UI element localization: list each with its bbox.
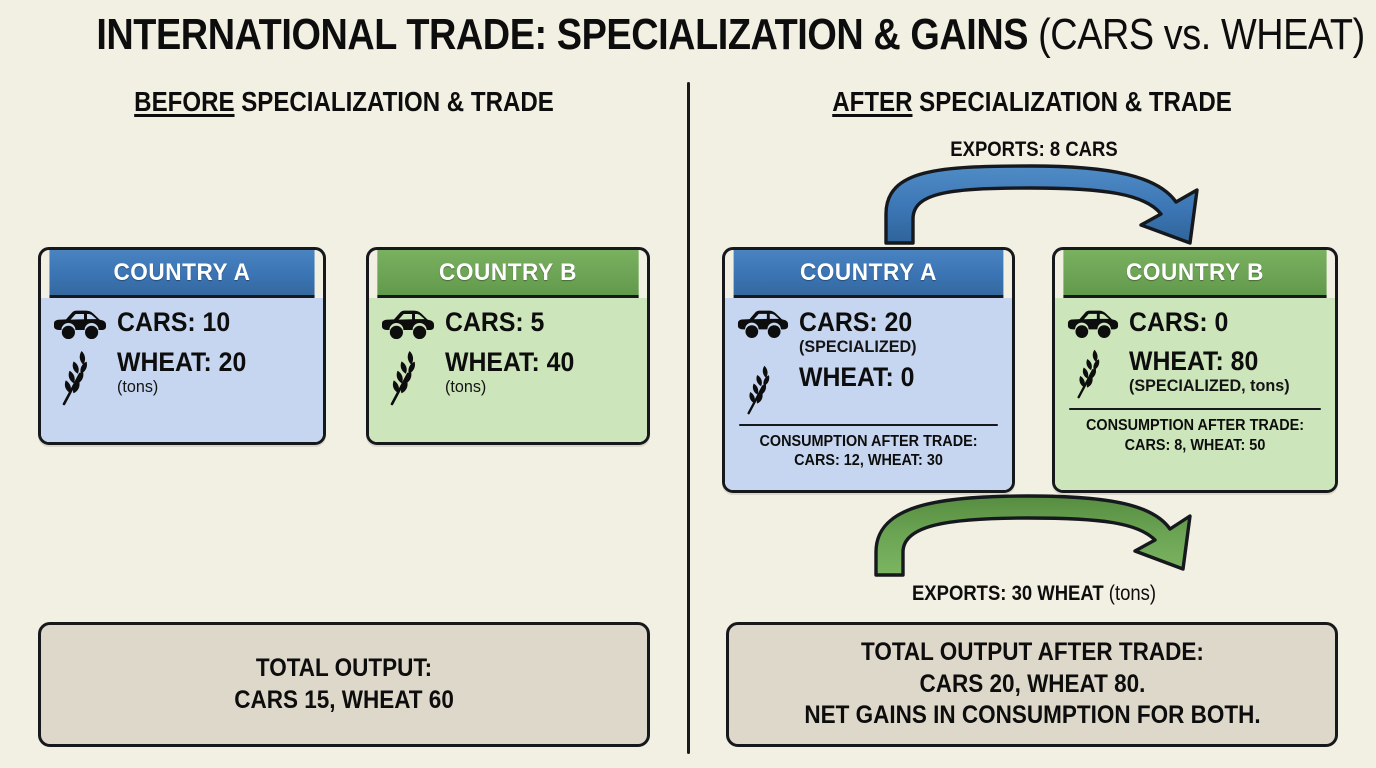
card-header-after-country-b: COUNTRY B (1063, 250, 1326, 298)
summary-after-line1: TOTAL OUTPUT AFTER TRADE: (804, 637, 1260, 669)
card-after-country-b: COUNTRY B CARS: 0 (1052, 247, 1338, 493)
page-title-parenthetical: (CARS vs. WHEAT) (1038, 10, 1365, 59)
card-divider (739, 424, 998, 426)
card-after-country-a: COUNTRY A CARS: 20 (SPECIALIZED) (722, 247, 1015, 493)
page-title-main: INTERNATIONAL TRADE: SPECIALIZATION & GA… (96, 10, 1028, 59)
row-cars-text: CARS: 20 (SPECIALIZED) (799, 308, 923, 357)
row-cars-text: CARS: 5 (445, 308, 553, 337)
after-country-b-consumption-values: CARS: 8, WHEAT: 50 (1076, 436, 1314, 456)
row-cars-text: CARS: 0 (1129, 308, 1237, 337)
panel-title-before-rest: SPECIALIZATION & TRADE (235, 86, 554, 117)
page-title: INTERNATIONAL TRADE: SPECIALIZATION & GA… (96, 10, 1279, 60)
label-exports-cars: EXPORTS: 8 CARS (809, 138, 1260, 162)
arrow-exports-wheat (876, 496, 1190, 575)
panel-title-before: BEFORE SPECIALIZATION & TRADE (48, 86, 640, 118)
infographic-canvas: INTERNATIONAL TRADE: SPECIALIZATION & GA… (0, 0, 1376, 768)
wheat-icon (737, 363, 789, 415)
panel-title-after-rest: SPECIALIZATION & TRADE (912, 86, 1231, 117)
wheat-icon (1067, 347, 1119, 399)
row-wheat: WHEAT: 40 (tons) (381, 348, 635, 406)
before-country-a-wheat: WHEAT: 20 (117, 348, 246, 377)
row-cars: CARS: 5 (381, 308, 635, 342)
card-divider (1069, 408, 1321, 410)
card-header-before-country-b: COUNTRY B (377, 250, 638, 298)
after-country-b-cars: CARS: 0 (1129, 308, 1228, 337)
card-header-before-country-a: COUNTRY A (49, 250, 314, 298)
summary-after-lines: TOTAL OUTPUT AFTER TRADE: CARS 20, WHEAT… (804, 637, 1260, 732)
before-country-b-cars: CARS: 5 (445, 308, 544, 337)
wheat-icon (381, 348, 435, 406)
after-country-a-wheat: WHEAT: 0 (799, 363, 914, 392)
after-country-b-consumption-label: CONSUMPTION AFTER TRADE: (1076, 416, 1314, 436)
card-header-after-country-a: COUNTRY A (734, 250, 1004, 298)
summary-after-line2: CARS 20, WHEAT 80. (804, 669, 1260, 701)
wheat-icon (53, 348, 107, 406)
row-wheat: WHEAT: 0 (737, 363, 1000, 415)
card-body-after-country-a: CARS: 20 (SPECIALIZED) (725, 298, 1012, 490)
after-country-a-cars: CARS: 20 (799, 308, 913, 337)
car-icon (737, 308, 789, 341)
after-country-b-wheat-note: (SPECIALIZED, tons) (1129, 377, 1290, 396)
after-country-a-consumption-label: CONSUMPTION AFTER TRADE: (746, 432, 991, 452)
label-exports-wheat-unit: (tons) (1109, 582, 1156, 605)
label-exports-cars-text: EXPORTS: 8 CARS (950, 138, 1117, 161)
panel-title-after-emphasis: AFTER (832, 86, 912, 117)
car-icon (1067, 308, 1119, 341)
card-body-after-country-b: CARS: 0 (1055, 298, 1335, 490)
summary-before-line1: TOTAL OUTPUT: (234, 653, 454, 685)
arrow-exports-cars (886, 166, 1197, 243)
row-wheat-text: WHEAT: 80 (SPECIALIZED, tons) (1129, 347, 1298, 396)
row-wheat: WHEAT: 20 (tons) (53, 348, 311, 406)
summary-before-line2: CARS 15, WHEAT 60 (234, 685, 454, 717)
label-exports-wheat: EXPORTS: 30 WHEAT (tons) (809, 582, 1260, 606)
before-country-a-cars: CARS: 10 (117, 308, 230, 337)
summary-after: TOTAL OUTPUT AFTER TRADE: CARS 20, WHEAT… (726, 622, 1338, 747)
label-exports-wheat-text: EXPORTS: 30 WHEAT (912, 582, 1104, 605)
summary-after-line3: NET GAINS IN CONSUMPTION FOR BOTH. (804, 700, 1260, 732)
card-before-country-b: COUNTRY B CARS: 5 (366, 247, 650, 445)
card-body-before-country-b: CARS: 5 (369, 298, 647, 442)
summary-before-lines: TOTAL OUTPUT: CARS 15, WHEAT 60 (234, 653, 454, 716)
after-country-a-cars-note: (SPECIALIZED) (799, 338, 917, 357)
panel-title-before-emphasis: BEFORE (134, 86, 234, 117)
summary-before: TOTAL OUTPUT: CARS 15, WHEAT 60 (38, 622, 650, 747)
row-cars: CARS: 10 (53, 308, 311, 342)
row-wheat-text: WHEAT: 0 (799, 363, 925, 392)
row-wheat-text: WHEAT: 20 (tons) (117, 348, 258, 397)
card-before-country-a: COUNTRY A CARS: 10 (38, 247, 326, 445)
panel-divider (687, 82, 690, 754)
car-icon (53, 308, 107, 342)
panel-title-after: AFTER SPECIALIZATION & TRADE (736, 86, 1328, 118)
row-cars-text: CARS: 10 (117, 308, 240, 337)
card-body-before-country-a: CARS: 10 (41, 298, 323, 442)
after-country-a-consumption-values: CARS: 12, WHEAT: 30 (746, 451, 991, 471)
after-country-b-wheat: WHEAT: 80 (1129, 347, 1285, 376)
before-country-b-wheat: WHEAT: 40 (445, 348, 574, 377)
car-icon (381, 308, 435, 342)
row-wheat: WHEAT: 80 (SPECIALIZED, tons) (1067, 347, 1323, 399)
before-country-a-wheat-unit: (tons) (117, 378, 250, 397)
before-country-b-wheat-unit: (tons) (445, 378, 578, 397)
row-wheat-text: WHEAT: 40 (tons) (445, 348, 586, 397)
row-cars: CARS: 0 (1067, 308, 1323, 341)
row-cars: CARS: 20 (SPECIALIZED) (737, 308, 1000, 357)
